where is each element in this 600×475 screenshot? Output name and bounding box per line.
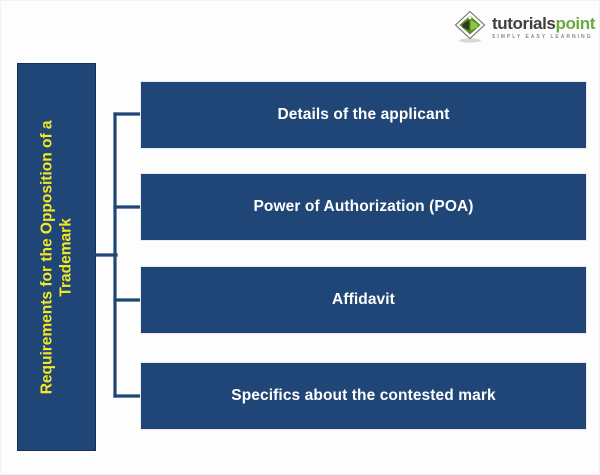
item-box-details-of-the-applicant[interactable]: Details of the applicant xyxy=(140,81,587,149)
item-label: Specifics about the contested mark xyxy=(231,387,495,405)
logo-wordmark: tutorialspoint SIMPLY EASY LEARNING xyxy=(492,14,595,40)
logo-name-point: point xyxy=(555,14,595,33)
logo-name: tutorialspoint xyxy=(492,15,595,32)
root-title-bar: Requirements for the Opposition of a Tra… xyxy=(17,63,96,451)
item-box-power-of-authorization[interactable]: Power of Authorization (POA) xyxy=(140,173,587,241)
tutorialspoint-logo: tutorialspoint SIMPLY EASY LEARNING xyxy=(453,9,595,45)
item-label: Affidavit xyxy=(332,291,395,309)
item-box-affidavit[interactable]: Affidavit xyxy=(140,266,587,334)
root-title-line-2: Trademark xyxy=(57,120,76,394)
item-label: Details of the applicant xyxy=(277,106,449,124)
item-box-specifics-about-contested-mark[interactable]: Specifics about the contested mark xyxy=(140,362,587,430)
logo-tagline: SIMPLY EASY LEARNING xyxy=(492,35,595,40)
logo-name-tutorials: tutorials xyxy=(492,14,555,33)
diagram-canvas: tutorialspoint SIMPLY EASY LEARNING Requ… xyxy=(0,0,600,475)
root-title-line-1: Requirements for the Opposition of a xyxy=(37,120,56,394)
item-label: Power of Authorization (POA) xyxy=(253,198,473,216)
open-book-diamond-icon xyxy=(453,10,487,44)
root-title-text: Requirements for the Opposition of a Tra… xyxy=(37,120,76,394)
